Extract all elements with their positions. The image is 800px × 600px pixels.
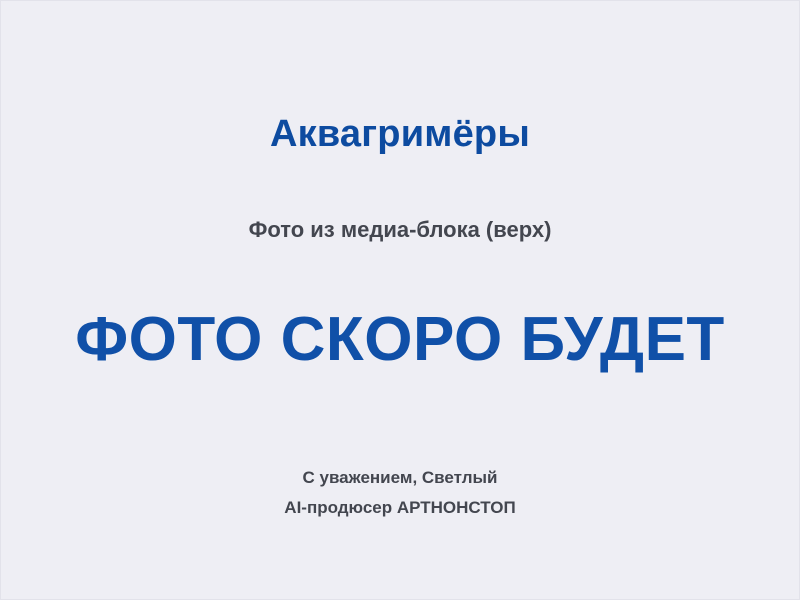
signature-line-closing: С уважением, Светлый	[1, 463, 799, 493]
page-title: Аквагримёры	[1, 113, 799, 157]
signature-line-author: AI-продюсер АРТНОНСТОП	[1, 493, 799, 523]
photo-placeholder-card: Аквагримёры Фото из медиа-блока (верх) Ф…	[0, 0, 800, 600]
page-subtitle: Фото из медиа-блока (верх)	[1, 217, 799, 243]
signature-block: С уважением, Светлый AI-продюсер АРТНОНС…	[1, 463, 799, 523]
placeholder-headline: ФОТО СКОРО БУДЕТ	[1, 306, 799, 374]
